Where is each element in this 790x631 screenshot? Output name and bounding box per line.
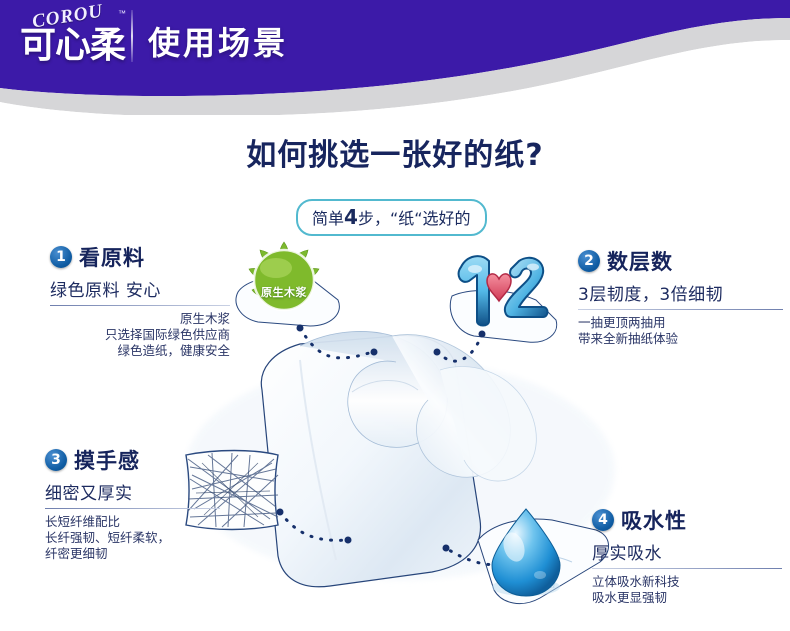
step-1-description: 原生木浆 只选择国际绿色供应商 绿色造纸，健康安全: [50, 311, 230, 359]
step-3-block: 3 摸手感 细密又厚实 长短纤维配比 长纤强韧、短纤柔软， 纤密更细韧: [45, 445, 220, 562]
step-3-desc-line: 纤密更细韧: [45, 546, 220, 562]
page-root: COROU ™ 可心柔 使用场景 如何挑选一张好的纸? 简单4步，“纸“选好的: [0, 0, 790, 631]
step-3-description: 长短纤维配比 长纤强韧、短纤柔软， 纤密更细韧: [45, 514, 220, 562]
step-1-desc-line: 原生木浆: [50, 311, 230, 327]
step-2-desc-line: 一抽更顶两抽用: [578, 315, 783, 331]
step-3-number-badge: 3: [45, 449, 67, 471]
connector-step3: [280, 512, 348, 540]
water-drop-graphic: [470, 503, 588, 607]
step-4-desc-line: 吸水更显强韧: [592, 590, 782, 606]
badge-number: 4: [344, 205, 358, 229]
step-2-desc-line: 带来全新抽纸体验: [578, 331, 783, 347]
header-banner: COROU ™ 可心柔 使用场景: [0, 0, 790, 115]
step-1-block: 1 看原料 绿色原料 安心 原生木浆 只选择国际绿色供应商 绿色造纸，健康安全: [50, 242, 230, 359]
raw-material-badge: 原生木浆: [243, 238, 325, 320]
step-1-desc-line: 只选择国际绿色供应商: [50, 327, 230, 343]
step-4-rule: [592, 568, 782, 569]
water-drop-icon: [470, 503, 588, 607]
steps-badge: 简单4步，“纸“选好的: [296, 199, 487, 236]
layers-number-graphic: [447, 243, 557, 335]
step-2-description: 一抽更顶两抽用 带来全新抽纸体验: [578, 315, 783, 347]
step-1-desc-line: 绿色造纸，健康安全: [50, 343, 230, 359]
step-4-subtitle: 厚实吸水: [592, 539, 782, 564]
step-4-block: 4 吸水性 厚实吸水 立体吸水新科技 吸水更显强韧: [592, 505, 782, 606]
step-4-heading: 4 吸水性: [592, 505, 782, 535]
step-4-number-badge: 4: [592, 509, 614, 531]
step-2-block: 2 数层数 3层韧度，3倍细韧 一抽更顶两抽用 带来全新抽纸体验: [578, 246, 783, 347]
step-4-description: 立体吸水新科技 吸水更显强韧: [592, 574, 782, 606]
banner-title: 使用场景: [148, 18, 288, 64]
step-3-subtitle: 细密又厚实: [45, 479, 220, 504]
leaf-circle-icon: [243, 238, 325, 320]
trademark-icon: ™: [118, 9, 126, 18]
step-2-number-badge: 2: [578, 250, 600, 272]
step-1-title: 看原料: [79, 242, 145, 272]
leaf-badge-label: 原生木浆: [243, 284, 325, 300]
step-2-subtitle: 3层韧度，3倍细韧: [578, 280, 783, 305]
step-4-title: 吸水性: [621, 505, 687, 535]
page-title: 如何挑选一张好的纸?: [0, 130, 790, 174]
step-1-heading: 1 看原料: [50, 242, 230, 272]
connector-step2: [438, 334, 482, 361]
badge-suffix: 步，“纸“选好的: [358, 209, 471, 228]
connector-step1: [300, 328, 372, 358]
step-2-title: 数层数: [607, 246, 673, 276]
step-2-rule: [578, 309, 783, 310]
step-1-number-badge: 1: [50, 246, 72, 268]
header-divider: [131, 10, 133, 62]
step-2-heading: 2 数层数: [578, 246, 783, 276]
step-4-desc-line: 立体吸水新科技: [592, 574, 782, 590]
step-1-subtitle: 绿色原料 安心: [50, 276, 230, 301]
step-3-desc-line: 长纤强韧、短纤柔软，: [45, 530, 220, 546]
brand-logo: COROU ™ 可心柔: [14, 6, 139, 68]
badge-prefix: 简单: [312, 209, 344, 228]
step-1-rule: [50, 305, 230, 306]
step-3-title: 摸手感: [74, 445, 140, 475]
logo-chinese-text: 可心柔: [20, 24, 125, 68]
step-3-heading: 3 摸手感: [45, 445, 220, 475]
step-3-rule: [45, 508, 220, 509]
number-one-two-icon: [447, 243, 557, 335]
step-3-desc-line: 长短纤维配比: [45, 514, 220, 530]
